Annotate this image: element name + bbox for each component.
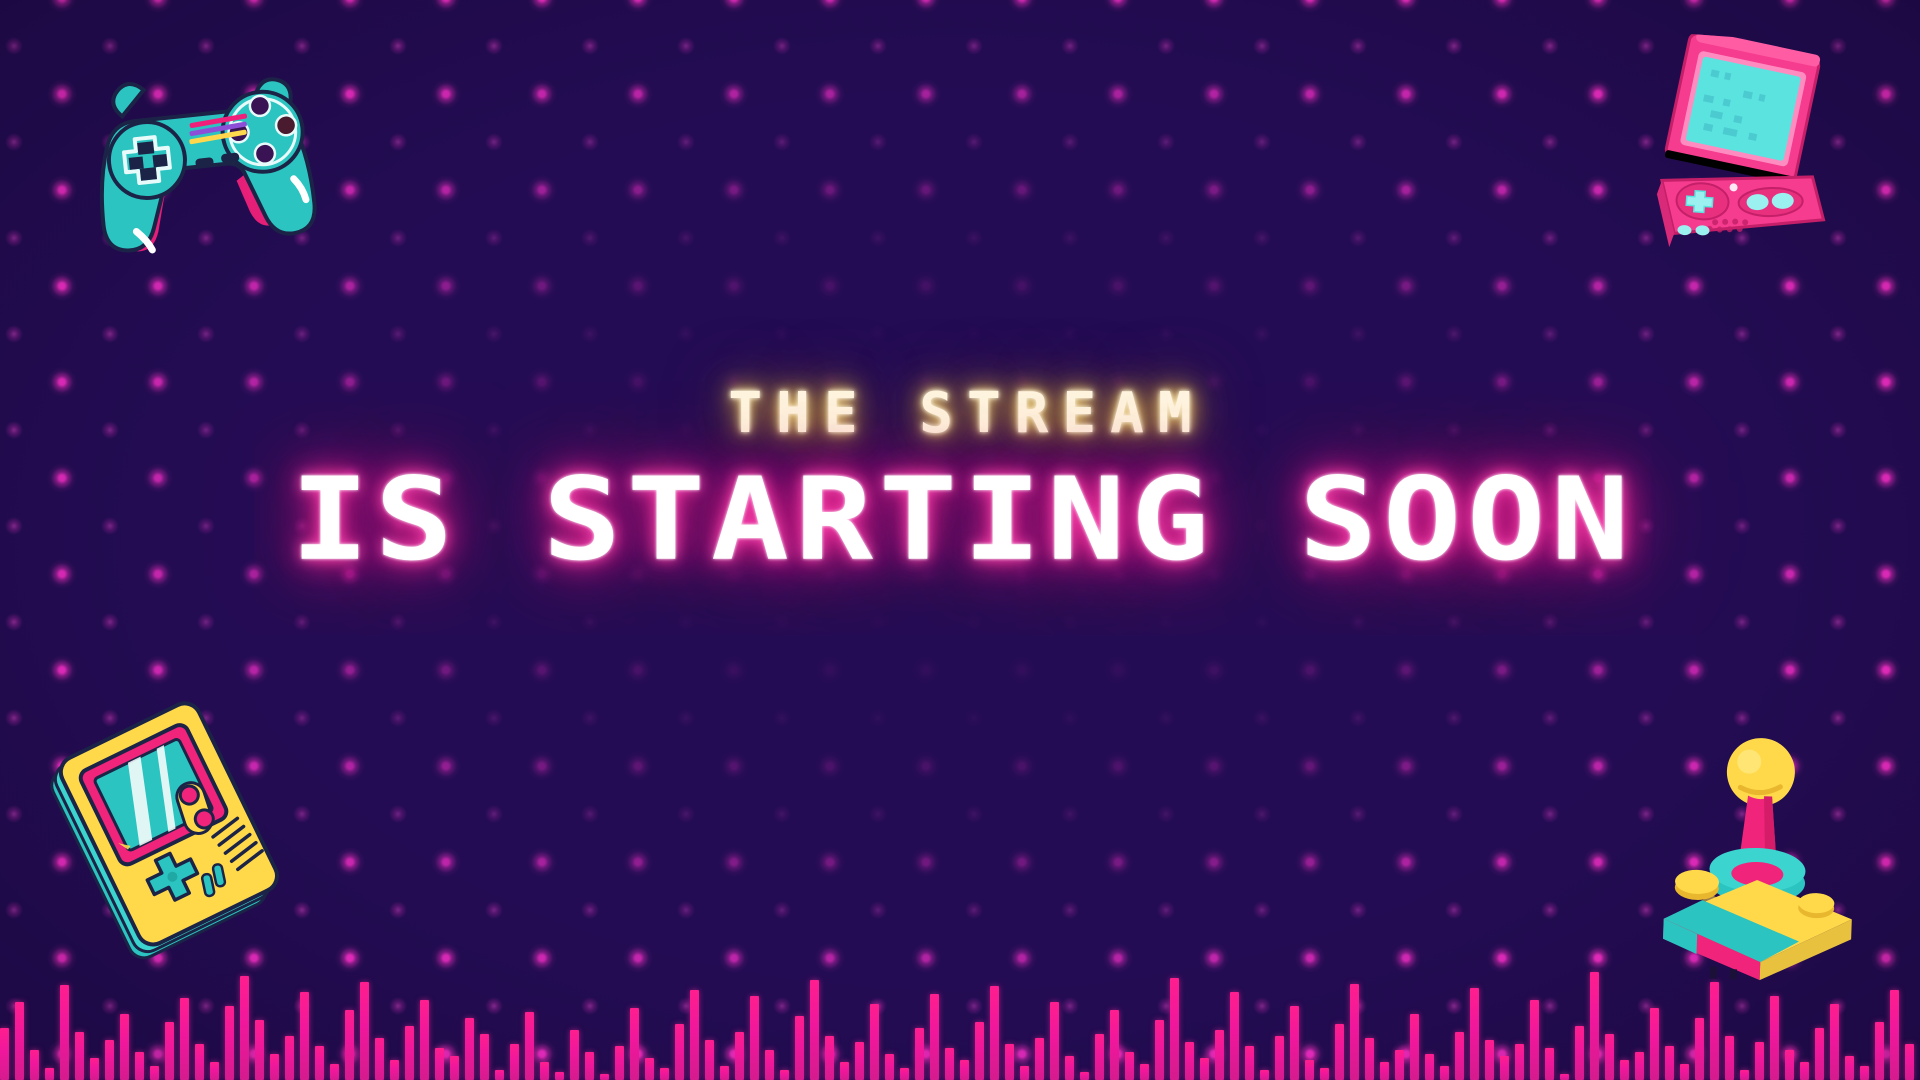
waveform-bar (510, 1044, 519, 1080)
waveform-bar (105, 1040, 114, 1080)
waveform-bar (1905, 1044, 1914, 1080)
waveform-bar (930, 994, 939, 1080)
waveform-bar (1095, 1034, 1104, 1080)
waveform-bar (1860, 1066, 1869, 1080)
waveform-bar (1680, 1064, 1689, 1080)
waveform-bar (1740, 1070, 1749, 1080)
waveform-bar (300, 992, 309, 1080)
waveform-bar (1380, 1062, 1389, 1080)
waveform-bar (675, 1024, 684, 1080)
waveform-bar (540, 1062, 549, 1080)
waveform-bar (1485, 1040, 1494, 1080)
waveform-bar (1395, 1050, 1404, 1080)
waveform-bar (945, 1048, 954, 1080)
title-line-main: IS STARTING SOON (0, 463, 1920, 577)
waveform-bar (315, 1046, 324, 1080)
waveform-bar (1560, 1074, 1569, 1080)
joystick-svg (1638, 726, 1877, 984)
waveform-bar (240, 976, 249, 1080)
waveform-bar (1365, 1038, 1374, 1080)
waveform-bar (1080, 1072, 1089, 1080)
waveform-bar (600, 1074, 609, 1080)
waveform-bar (165, 1022, 174, 1080)
waveform-bar (450, 1056, 459, 1080)
waveform-bar (1320, 1068, 1329, 1080)
clamshell-svg (1620, 30, 1865, 275)
waveform-bar (1065, 1056, 1074, 1080)
waveform-bar (60, 985, 69, 1080)
arcade-joystick-icon (1638, 726, 1877, 984)
waveform-bar (1710, 982, 1719, 1080)
waveform-bar (1770, 996, 1779, 1080)
stream-overlay-screen: THE STREAM IS STARTING SOON (0, 0, 1920, 1080)
waveform-bar (1230, 992, 1239, 1080)
waveform-bar (435, 1048, 444, 1080)
waveform-bar (765, 1050, 774, 1080)
waveform-bar (1590, 972, 1599, 1080)
waveform-bar (375, 1038, 384, 1080)
waveform-bar (210, 1062, 219, 1080)
waveform-bar (465, 1018, 474, 1080)
waveform-bar (1170, 978, 1179, 1080)
waveform-bar (720, 1066, 729, 1080)
waveform-bar (1350, 984, 1359, 1080)
waveform-bar (1875, 1022, 1884, 1080)
waveform-bar (840, 1062, 849, 1080)
waveform-bar (750, 996, 759, 1080)
waveform-bar (660, 1068, 669, 1080)
waveform-bar (1455, 1032, 1464, 1080)
waveform-bar (1815, 1028, 1824, 1080)
waveform-bar (630, 1008, 639, 1080)
waveform-bar (75, 1032, 84, 1080)
waveform-bar (1050, 1002, 1059, 1080)
waveform-bar (1605, 1034, 1614, 1080)
waveform-bar (420, 1000, 429, 1080)
waveform-bar (1530, 1000, 1539, 1080)
waveform-bar (915, 1028, 924, 1080)
waveform-bar (1515, 1044, 1524, 1080)
waveform-bar (825, 1036, 834, 1080)
waveform-bar (255, 1020, 264, 1080)
waveform-bar (1830, 1004, 1839, 1080)
waveform-bar (1755, 1042, 1764, 1080)
waveform-bar (1305, 1060, 1314, 1080)
waveform-bar (615, 1046, 624, 1080)
waveform-bar (1545, 1048, 1554, 1080)
waveform-bar (1665, 1046, 1674, 1080)
waveform-bar (120, 1014, 129, 1080)
waveform-bar (1440, 1066, 1449, 1080)
waveform-bar (1110, 1010, 1119, 1080)
waveform-bar (1470, 988, 1479, 1080)
waveform-bar (690, 990, 699, 1080)
waveform-bar (1575, 1026, 1584, 1080)
waveform-bar (1200, 1058, 1209, 1080)
gamepad-svg (60, 48, 350, 285)
waveform-bar (900, 1068, 909, 1080)
waveform-bar (1785, 1050, 1794, 1080)
waveform-bar (0, 1028, 9, 1080)
waveform-bar (225, 1006, 234, 1080)
waveform-bar (1800, 1062, 1809, 1080)
waveform-bar (150, 1066, 159, 1080)
gamepad-icon (60, 48, 350, 285)
waveform-bar (360, 982, 369, 1080)
waveform-bar (285, 1036, 294, 1080)
waveform-bar (1215, 1030, 1224, 1080)
waveform-bar (1890, 990, 1899, 1080)
waveform-bar (570, 1030, 579, 1080)
audio-visualizer (0, 880, 1920, 1080)
waveform-bar (1260, 1070, 1269, 1080)
waveform-bar (1275, 1036, 1284, 1080)
title-line-upper: THE STREAM (0, 386, 1920, 442)
waveform-bar (195, 1044, 204, 1080)
waveform-bar (1020, 1066, 1029, 1080)
waveform-bar (1005, 1044, 1014, 1080)
waveform-bar (585, 1052, 594, 1080)
waveform-bar (1290, 1006, 1299, 1080)
waveform-bar (1695, 1018, 1704, 1080)
waveform-bar (855, 1042, 864, 1080)
waveform-bar (90, 1058, 99, 1080)
waveform-bar (480, 1034, 489, 1080)
waveform-bar (1035, 1038, 1044, 1080)
waveform-bar (705, 1040, 714, 1080)
waveform-bar (795, 1016, 804, 1080)
waveform-bar (885, 1054, 894, 1080)
waveform-bar (180, 998, 189, 1080)
waveform-bar (15, 1002, 24, 1080)
waveform-bar (495, 1070, 504, 1080)
waveform-bar (135, 1052, 144, 1080)
waveform-bar (45, 1068, 54, 1080)
waveform-bar (645, 1058, 654, 1080)
waveform-bar (405, 1026, 414, 1080)
waveform-bar (1620, 1060, 1629, 1080)
handheld-console-clamshell-icon (1620, 30, 1865, 275)
waveform-bar (30, 1050, 39, 1080)
waveform-bar (1725, 1036, 1734, 1080)
waveform-bar (780, 1070, 789, 1080)
waveform-bar (870, 1004, 879, 1080)
waveform-bar (1500, 1056, 1509, 1080)
waveform-bar (735, 1032, 744, 1080)
waveform-bar (990, 986, 999, 1080)
waveform-bar (555, 1072, 564, 1080)
waveform-bar (1845, 1056, 1854, 1080)
waveform-bar (1125, 1052, 1134, 1080)
waveform-bar (1635, 1052, 1644, 1080)
waveform-bar (960, 1060, 969, 1080)
waveform-bar (1155, 1020, 1164, 1080)
waveform-bar (345, 1010, 354, 1080)
waveform-bar (1245, 1046, 1254, 1080)
waveform-bar (1140, 1064, 1149, 1080)
waveform-bar (810, 980, 819, 1080)
waveform-bar (330, 1064, 339, 1080)
waveform-bar (975, 1022, 984, 1080)
waveform-bar (1410, 1014, 1419, 1080)
waveform-bar (270, 1054, 279, 1080)
waveform-bar (1425, 1054, 1434, 1080)
waveform-bar (1335, 1024, 1344, 1080)
waveform-bar (1650, 1008, 1659, 1080)
title-block: THE STREAM IS STARTING SOON (0, 386, 1920, 576)
waveform-bar (525, 1012, 534, 1080)
waveform-bar (390, 1060, 399, 1080)
waveform-bar (1185, 1042, 1194, 1080)
